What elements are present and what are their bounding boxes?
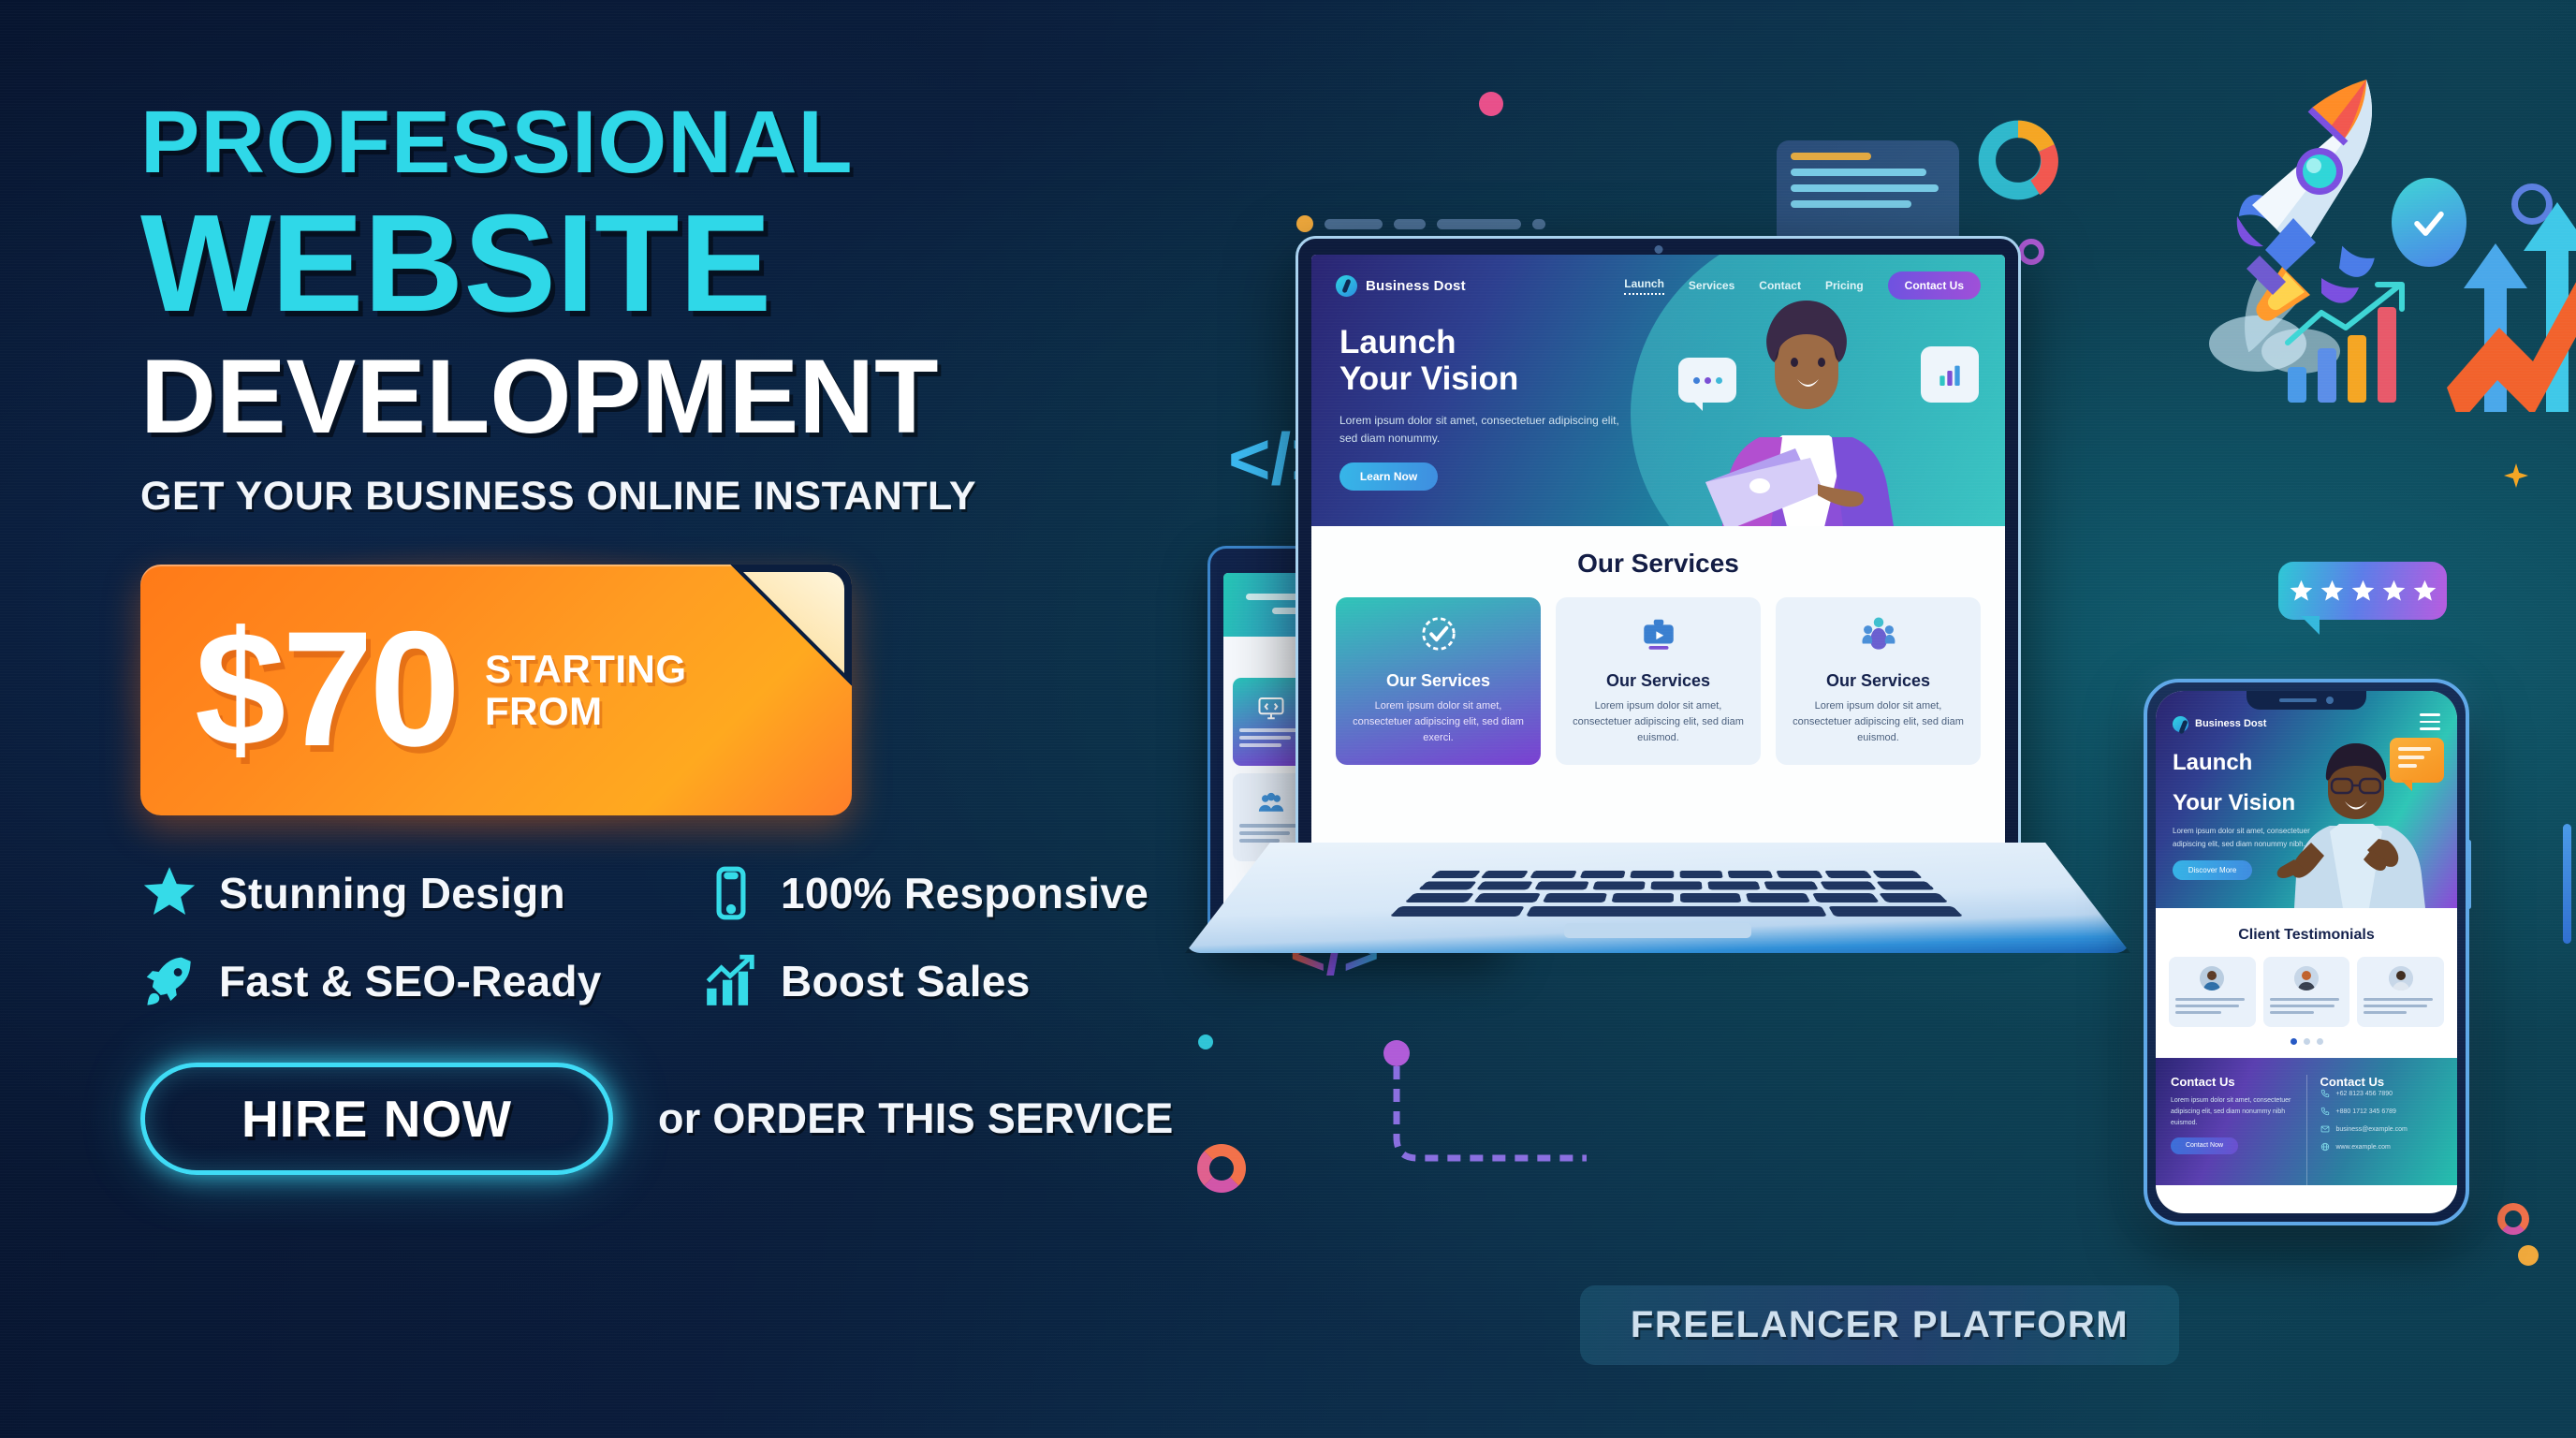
laptop-keyboard [1385,871,1969,921]
nav-item-launch[interactable]: Launch [1624,277,1664,295]
phone-hero-section: Business Dost Launch Your Vision Lorem i… [2156,691,2457,908]
decor-ring-purple [2018,239,2044,265]
brand-name: Business Dost [1366,278,1466,294]
phone-header: Business Dost [2173,713,2440,735]
feature-label: Stunning Design [219,868,565,918]
services-card-grid: Our Services Lorem ipsum dolor sit amet,… [1336,597,1981,765]
testimonials-grid [2169,957,2444,1027]
people-group-icon [1257,789,1285,817]
testimonial-card[interactable] [2357,957,2444,1027]
decor-ring-magenta-2 [2497,1203,2529,1235]
hire-now-label: HIRE NOW [241,1089,512,1149]
phone-testimonials-section: Client Testimonials [2156,908,2457,1058]
price-amount: $70 [195,612,457,768]
services-section-title: Our Services [1336,549,1981,579]
contact-value: +880 1712 345 6789 [2336,1108,2396,1115]
price-tag: $70 STARTING FROM [140,565,852,815]
headline-subtitle: GET YOUR BUSINESS ONLINE INSTANTLY [140,474,1217,520]
donut-chart-icon [1975,117,2061,203]
contact-right-column: Contact Us +62 8123 456 7890 +880 1712 3… [2320,1075,2443,1185]
globe-icon [2320,1142,2330,1152]
brand-mark-icon [1336,275,1357,297]
contact-left-body: Lorem ipsum dolor sit amet, consectetuer… [2171,1095,2293,1129]
nav-contact-us-button[interactable]: Contact Us [1888,271,1981,300]
star-rating-badge [2278,562,2447,620]
feature-label: 100% Responsive [781,868,1149,918]
contact-item-phone-1[interactable]: +62 8123 456 7890 [2320,1089,2443,1098]
freelancer-platform-badge: FREELANCER PLATFORM [1580,1285,2179,1365]
laptop-camera [1654,245,1662,254]
website-services-section: Our Services Our Services Lorem ipsum do… [1311,526,2005,851]
nav-item-pricing[interactable]: Pricing [1825,279,1864,292]
star-icon [140,864,198,922]
left-content-column: PROFESSIONAL WEBSITE DEVELOPMENT GET YOU… [140,98,1217,1175]
phone-screen: Business Dost Launch Your Vision Lorem i… [2156,691,2457,1213]
price-from-line-1: STARTING [485,648,687,690]
phone-logo[interactable]: Business Dost [2173,716,2266,732]
service-card[interactable]: Our Services Lorem ipsum dolor sit amet,… [1556,597,1761,765]
contact-now-button[interactable]: Contact Now [2171,1137,2238,1154]
bar-chart-growth-icon [702,952,760,1010]
phone-discover-button[interactable]: Discover More [2173,860,2252,880]
rating-star-icon [2320,579,2345,604]
laptop-mockup: Business Dost Launch Services Contact Pr… [1295,236,2021,1125]
code-chat-bubble [1777,140,1959,246]
chat-bubble-icon [1678,358,1736,403]
phone-contact-section: Contact Us Lorem ipsum dolor sit amet, c… [2156,1058,2457,1185]
phone-brand-name: Business Dost [2195,718,2266,729]
feature-label: Boost Sales [781,956,1031,1006]
feature-list: Stunning Design 100% Responsive Fast & S… [140,864,1245,1010]
price-badge: $70 STARTING FROM [140,565,852,815]
rating-star-icon [2412,579,2437,604]
laptop-screen: Business Dost Launch Services Contact Pr… [1311,255,2005,851]
contact-value: +62 8123 456 7890 [2336,1091,2393,1097]
contact-item-email[interactable]: business@example.com [2320,1124,2443,1134]
hero-title-line-1: Launch [1339,324,1620,360]
laptop-base [1185,843,2130,953]
contact-item-phone-2[interactable]: +880 1712 345 6789 [2320,1107,2443,1116]
testimonial-card[interactable] [2169,957,2256,1027]
feature-item-responsive: 100% Responsive [702,864,1264,922]
device-mockup-scene: </> </> [1207,0,2576,1438]
nav-item-services[interactable]: Services [1689,279,1734,292]
platform-badge-label: FREELANCER PLATFORM [1631,1304,2129,1346]
headline-line-2: WEBSITE [140,195,1217,333]
testimonials-title: Client Testimonials [2169,927,2444,944]
headline-line-1: PROFESSIONAL [140,98,1217,187]
carousel-dots[interactable] [2169,1038,2444,1045]
phone-icon [2320,1089,2330,1098]
rating-star-icon [2289,579,2314,604]
phone-icon [2320,1107,2330,1116]
promotional-banner: PROFESSIONAL WEBSITE DEVELOPMENT GET YOU… [0,0,2576,1438]
contact-right-heading: Contact Us [2320,1075,2443,1089]
shield-check-icon [1419,614,1458,653]
decor-dot-amber-2 [2518,1245,2539,1266]
service-card-desc: Lorem ipsum dolor sit amet, consectetuer… [1791,698,1966,746]
feature-label: Fast & SEO-Ready [219,956,602,1006]
hero-learn-now-button[interactable]: Learn Now [1339,462,1438,491]
contact-value: business@example.com [2336,1126,2408,1133]
testimonial-card[interactable] [2263,957,2350,1027]
website-nav-menu: Launch Services Contact Pricing Contact … [1624,271,1981,300]
contact-value: www.example.com [2336,1144,2391,1151]
contact-left-heading: Contact Us [2171,1075,2293,1089]
illustration-businesswoman [1705,297,1907,526]
phone-mockup: Business Dost Launch Your Vision Lorem i… [2144,679,2469,1225]
website-navbar: Business Dost Launch Services Contact Pr… [1311,255,2005,300]
hire-now-button[interactable]: HIRE NOW [140,1063,613,1175]
service-card-title: Our Services [1571,671,1746,691]
service-card[interactable]: Our Services Lorem ipsum dolor sit amet,… [1776,597,1981,765]
laptop-lid: Business Dost Launch Services Contact Pr… [1295,236,2021,873]
service-card-desc: Lorem ipsum dolor sit amet, consectetuer… [1351,698,1526,746]
decor-diamond-icon [2504,463,2528,488]
headline-line-3: DEVELOPMENT [140,345,1217,449]
feature-item-stunning-design: Stunning Design [140,864,702,922]
rating-star-icon [2350,579,2376,604]
order-service-text: or ORDER THIS SERVICE [658,1094,1174,1143]
hero-text-block: Launch Your Vision Lorem ipsum dolor sit… [1311,300,1620,491]
cta-row: HIRE NOW or ORDER THIS SERVICE [140,1063,1217,1175]
feature-item-seo-ready: Fast & SEO-Ready [140,952,702,1010]
contact-left-column: Contact Us Lorem ipsum dolor sit amet, c… [2171,1075,2293,1185]
price-from-line-2: FROM [485,690,687,732]
rating-star-icon [2381,579,2407,604]
growth-bar-chart-icon [2284,281,2434,403]
orange-chat-bubble-icon [2390,738,2444,783]
avatar [2389,966,2413,990]
phone-notch [2247,691,2366,710]
hero-title-line-2: Your Vision [1339,360,1620,397]
team-people-icon [1859,614,1898,653]
website-hero-section: Business Dost Launch Services Contact Pr… [1311,255,2005,526]
analytics-bubble-icon [1921,346,1979,403]
price-from-label: STARTING FROM [485,648,687,733]
brand-mark-icon [2173,716,2188,732]
feature-item-boost-sales: Boost Sales [702,952,1264,1010]
decor-vertical-line [2563,824,2571,944]
service-card-title: Our Services [1351,671,1526,691]
growth-arrows-icon [2443,178,2576,412]
hamburger-menu-icon[interactable] [2420,713,2440,735]
website-logo[interactable]: Business Dost [1336,275,1466,297]
contact-divider [2306,1075,2307,1185]
service-card-title: Our Services [1791,671,1966,691]
avatar [2294,966,2319,990]
rocket-icon [140,952,198,1010]
avatar [2200,966,2224,990]
mobile-phone-icon [702,864,760,922]
nav-item-contact[interactable]: Contact [1759,279,1801,292]
service-card-desc: Lorem ipsum dolor sit amet, consectetuer… [1571,698,1746,746]
briefcase-play-icon [1639,614,1678,653]
phone-side-button[interactable] [2466,840,2471,909]
hero-body-text: Lorem ipsum dolor sit amet, consectetuer… [1339,412,1620,447]
service-card[interactable]: Our Services Lorem ipsum dolor sit amet,… [1336,597,1541,765]
laptop-trackpad[interactable] [1564,923,1751,938]
contact-item-website[interactable]: www.example.com [2320,1142,2443,1152]
decor-dot-pink [1479,92,1503,116]
mail-icon [2320,1124,2330,1134]
monitor-code-icon [1257,694,1285,722]
